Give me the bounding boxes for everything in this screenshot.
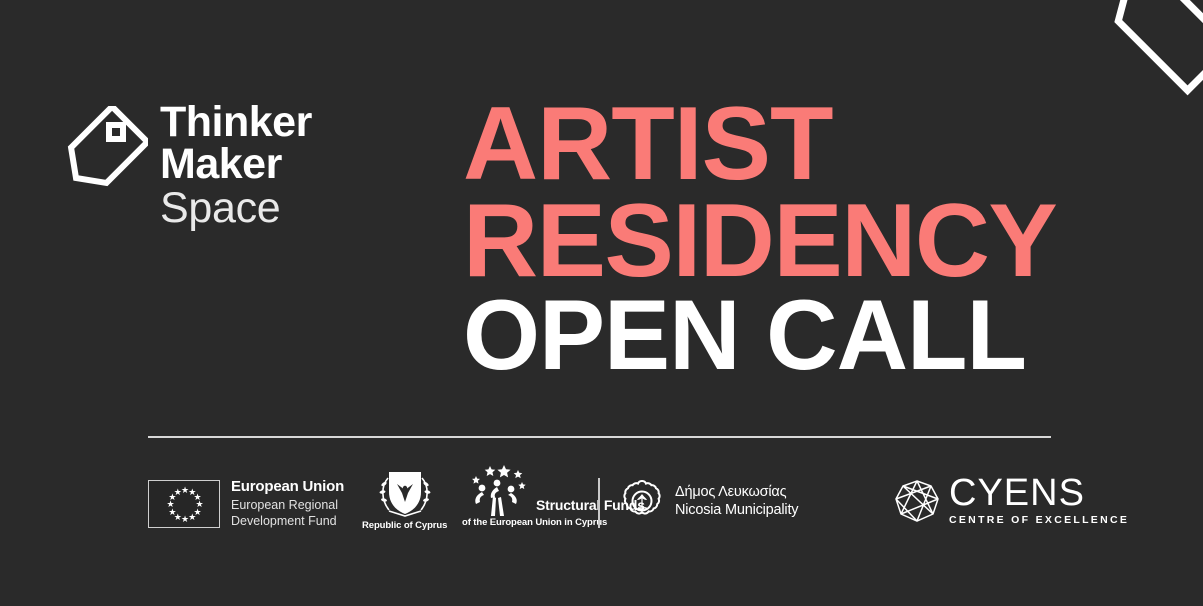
poster-canvas: Thinker Maker Space ARTIST RESIDENCY OPE… [0,0,1203,606]
structural-funds-subtitle: of the European Union in Cyprus [462,517,607,528]
eu-star: ★ [173,488,182,497]
structural-funds-tree-stars-icon [460,464,534,516]
cyens-polygon-network-icon [893,477,941,525]
thinker-maker-space-pencil-logo-icon [62,106,148,192]
republic-of-cyprus-label: Republic of Cyprus [362,520,447,531]
brand-line-thinker: Thinker [160,101,312,143]
logo-cyens: CYENS CENTRE OF EXCELLENCE [893,476,1129,526]
eu-subtitle-line-2: Development Fund [231,513,344,530]
eu-title: European Union [231,478,344,497]
logo-structural-funds: Structural Funds of the European Union i… [460,464,645,528]
corner-pencil-decoration [1107,0,1203,96]
eu-flag-stars-icon: ★★★★★★★★★★★★ [148,480,220,528]
nicosia-municipality-crest-icon [619,478,665,524]
brand-line-maker: Maker [160,143,312,185]
funding-logo-strip: ★★★★★★★★★★★★ European Union European Reg… [0,462,1203,542]
cyens-name: CYENS [949,476,1129,512]
cyens-tagline: CENTRE OF EXCELLENCE [949,514,1129,526]
brand-lockup: Thinker Maker Space [62,101,312,232]
logo-nicosia-municipality: Δήμος Λευκωσίας Nicosia Municipality [619,478,798,524]
headline-block: ARTIST RESIDENCY OPEN CALL [463,96,1056,382]
nicosia-name-english: Nicosia Municipality [675,501,798,519]
logo-republic-of-cyprus: Republic of Cyprus [362,468,447,531]
logo-european-union: ★★★★★★★★★★★★ European Union European Reg… [148,478,344,530]
eu-subtitle-line-1: European Regional [231,497,344,514]
nicosia-name-greek: Δήμος Λευκωσίας [675,483,798,501]
headline-line-open-call: OPEN CALL [463,289,1056,381]
brand-line-space: Space [160,185,312,231]
headline-line-residency: RESIDENCY [463,193,1056,290]
horizontal-divider [148,436,1051,438]
footer-vertical-separator [598,478,600,528]
cyprus-coat-of-arms-icon [375,468,435,518]
headline-line-artist: ARTIST [463,96,1056,193]
